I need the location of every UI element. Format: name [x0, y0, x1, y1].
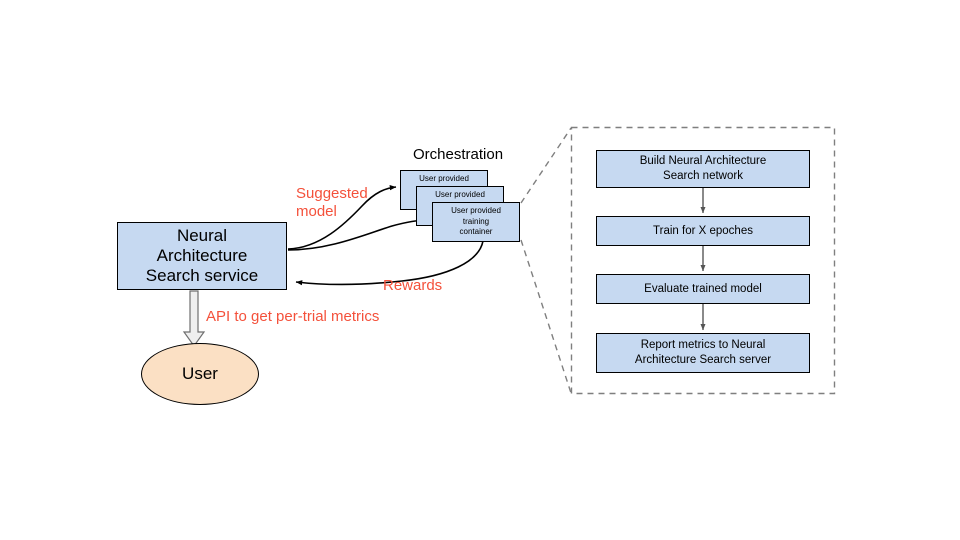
user-label: User — [142, 364, 258, 384]
rewards-label: Rewards — [383, 277, 442, 295]
training-container-box-front[interactable]: User provided training container — [432, 202, 520, 242]
flow-step-report-metrics[interactable]: Report metrics to Neural Architecture Se… — [596, 333, 810, 373]
nas-service-label: Neural Architecture Search service — [118, 226, 286, 286]
flow-step-train-epochs-label: Train for X epoches — [597, 224, 809, 239]
nas-service-box[interactable]: Neural Architecture Search service — [117, 222, 287, 290]
flow-step-build-network[interactable]: Build Neural Architecture Search network — [596, 150, 810, 188]
flow-step-report-metrics-label: Report metrics to Neural Architecture Se… — [597, 338, 809, 367]
orchestration-title: Orchestration — [413, 146, 503, 164]
api-block-arrow — [184, 291, 204, 346]
callout-line-top — [521, 128, 571, 203]
callout-line-bottom — [521, 240, 571, 393]
flow-step-evaluate-model[interactable]: Evaluate trained model — [596, 274, 810, 304]
api-metrics-label: API to get per-trial metrics — [206, 308, 379, 326]
user-ellipse[interactable]: User — [141, 343, 259, 405]
flow-step-train-epochs[interactable]: Train for X epoches — [596, 216, 810, 246]
training-container-label-front: User provided training container — [433, 206, 519, 238]
flow-step-evaluate-model-label: Evaluate trained model — [597, 282, 809, 297]
flow-step-build-network-label: Build Neural Architecture Search network — [597, 154, 809, 183]
suggested-model-label: Suggested model — [296, 185, 368, 220]
